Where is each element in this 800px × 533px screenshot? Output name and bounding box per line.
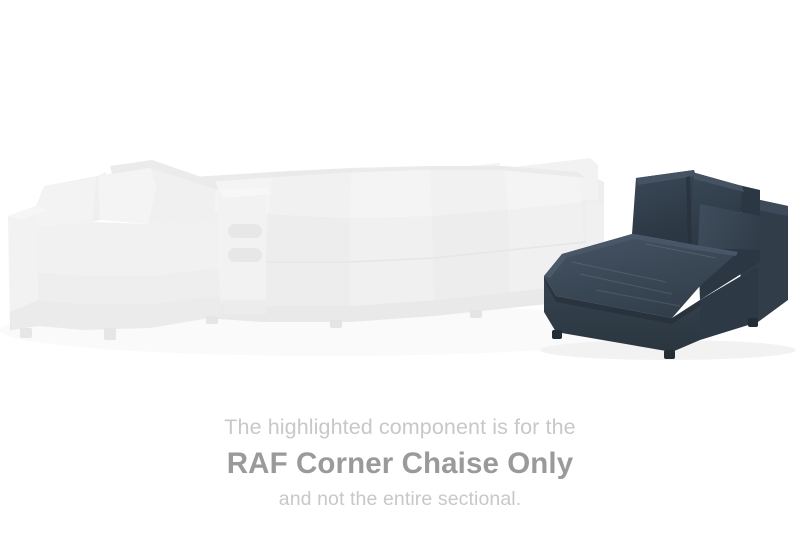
chaise-leg-back-right (748, 318, 758, 327)
sectional-illustration (0, 0, 800, 400)
ghost-module-loveseat (8, 160, 222, 340)
product-highlight-screenshot: The highlighted component is for the RAF… (0, 0, 800, 533)
chaise-leg-front-right (664, 350, 675, 359)
chaise-leg-front-left (552, 330, 562, 339)
caption-line-bottom: and not the entire sectional. (0, 485, 800, 513)
sectional-illustration-svg (0, 0, 800, 400)
cupholder-slot-1 (228, 224, 262, 238)
caption-line-main: RAF Corner Chaise Only (0, 444, 800, 484)
caption-block: The highlighted component is for the RAF… (0, 412, 800, 513)
caption-line-top: The highlighted component is for the (0, 412, 800, 442)
ghost-module-console (218, 188, 272, 314)
cupholder-slot-2 (228, 248, 262, 262)
